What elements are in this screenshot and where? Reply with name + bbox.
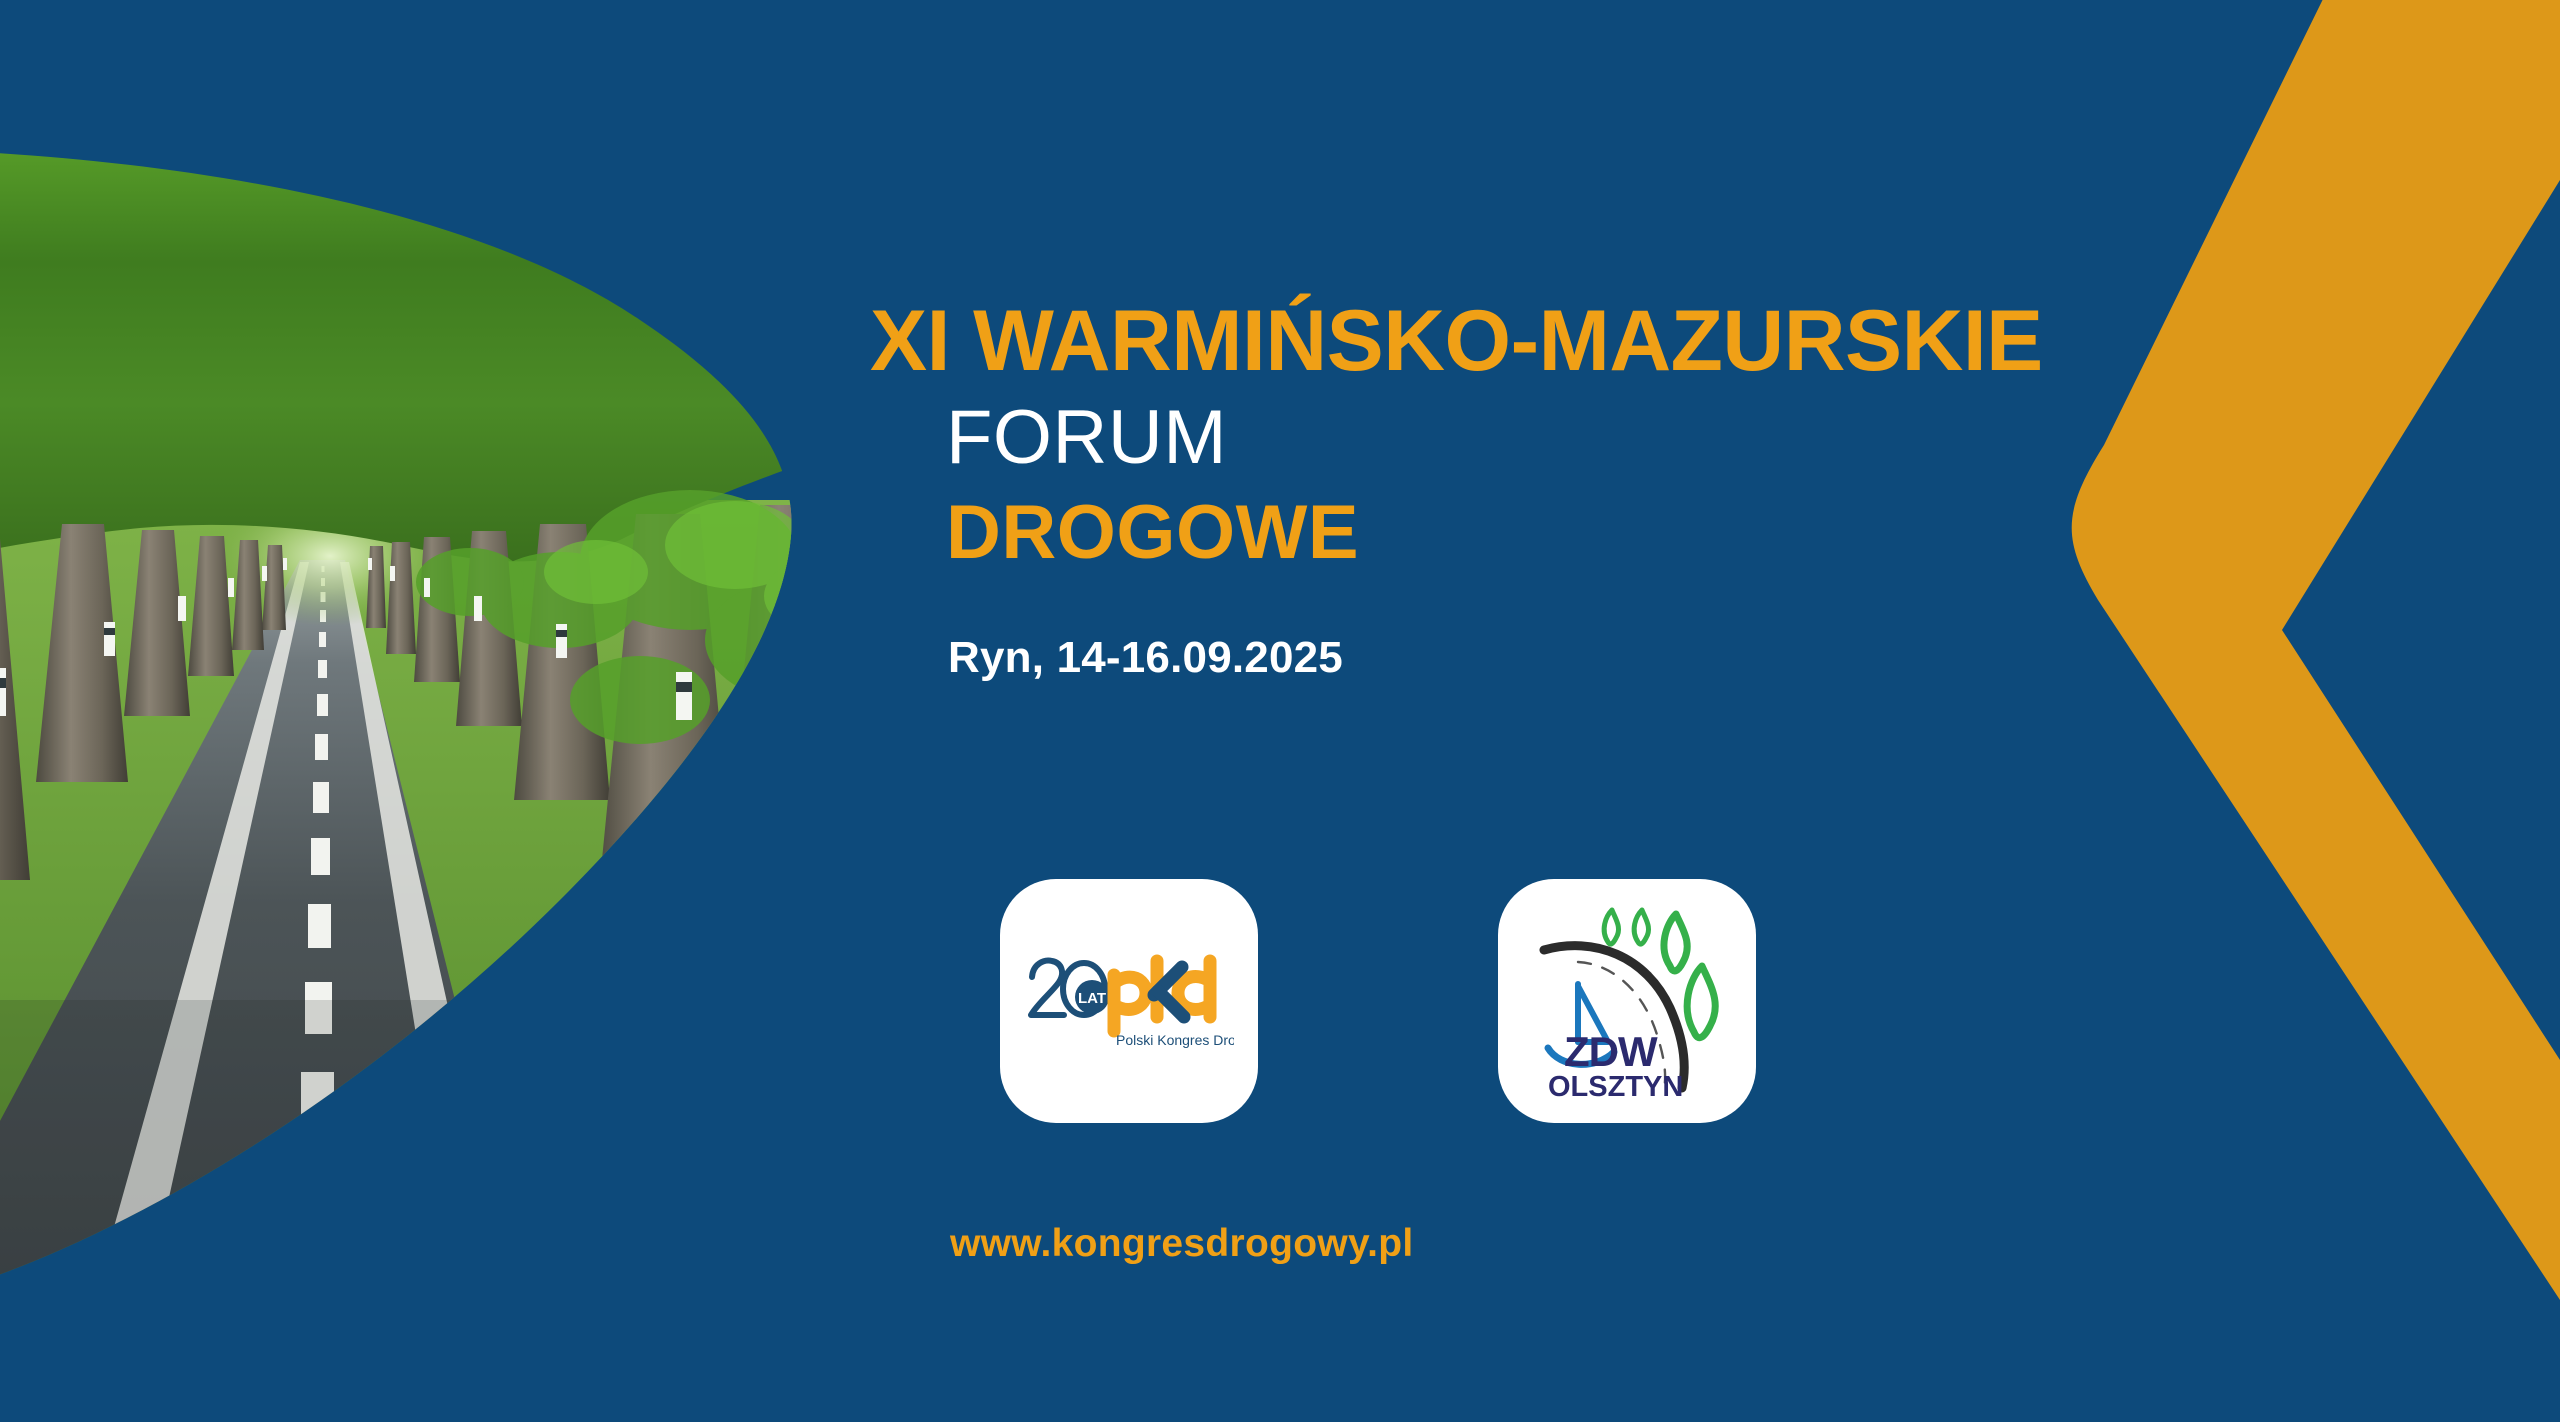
zdw-label: ZDW (1564, 1028, 1658, 1075)
pkd-tagline: Polski Kongres Drogowy (1116, 1032, 1234, 1048)
sponsor-logos: LAT (1000, 879, 1760, 1123)
page-title-line1: XI WARMIŃSKO-MAZURSKIE (870, 298, 2043, 384)
pkd-logo-card[interactable]: LAT (1000, 879, 1258, 1123)
pkd-logo-icon: LAT (1024, 953, 1234, 1049)
poster-content: XI WARMIŃSKO-MAZURSKIE FORUM DROGOWE Ryn… (868, 0, 2068, 1422)
event-date-location: Ryn, 14-16.09.2025 (948, 636, 1343, 680)
tree-lined-road-photo (0, 0, 820, 1422)
zdw-olsztyn-logo-card[interactable]: ZDW OLSZTYN (1498, 879, 1756, 1123)
olsztyn-label: OLSZTYN (1548, 1071, 1683, 1100)
zdw-olsztyn-logo-icon: ZDW OLSZTYN (1534, 902, 1720, 1100)
website-url[interactable]: www.kongresdrogowy.pl (950, 1224, 1414, 1263)
svg-text:LAT: LAT (1078, 990, 1106, 1007)
poster-canvas: XI WARMIŃSKO-MAZURSKIE FORUM DROGOWE Ryn… (0, 0, 2560, 1422)
page-title-line3: DROGOWE (946, 495, 1359, 571)
page-title-line2: FORUM (946, 400, 1227, 476)
